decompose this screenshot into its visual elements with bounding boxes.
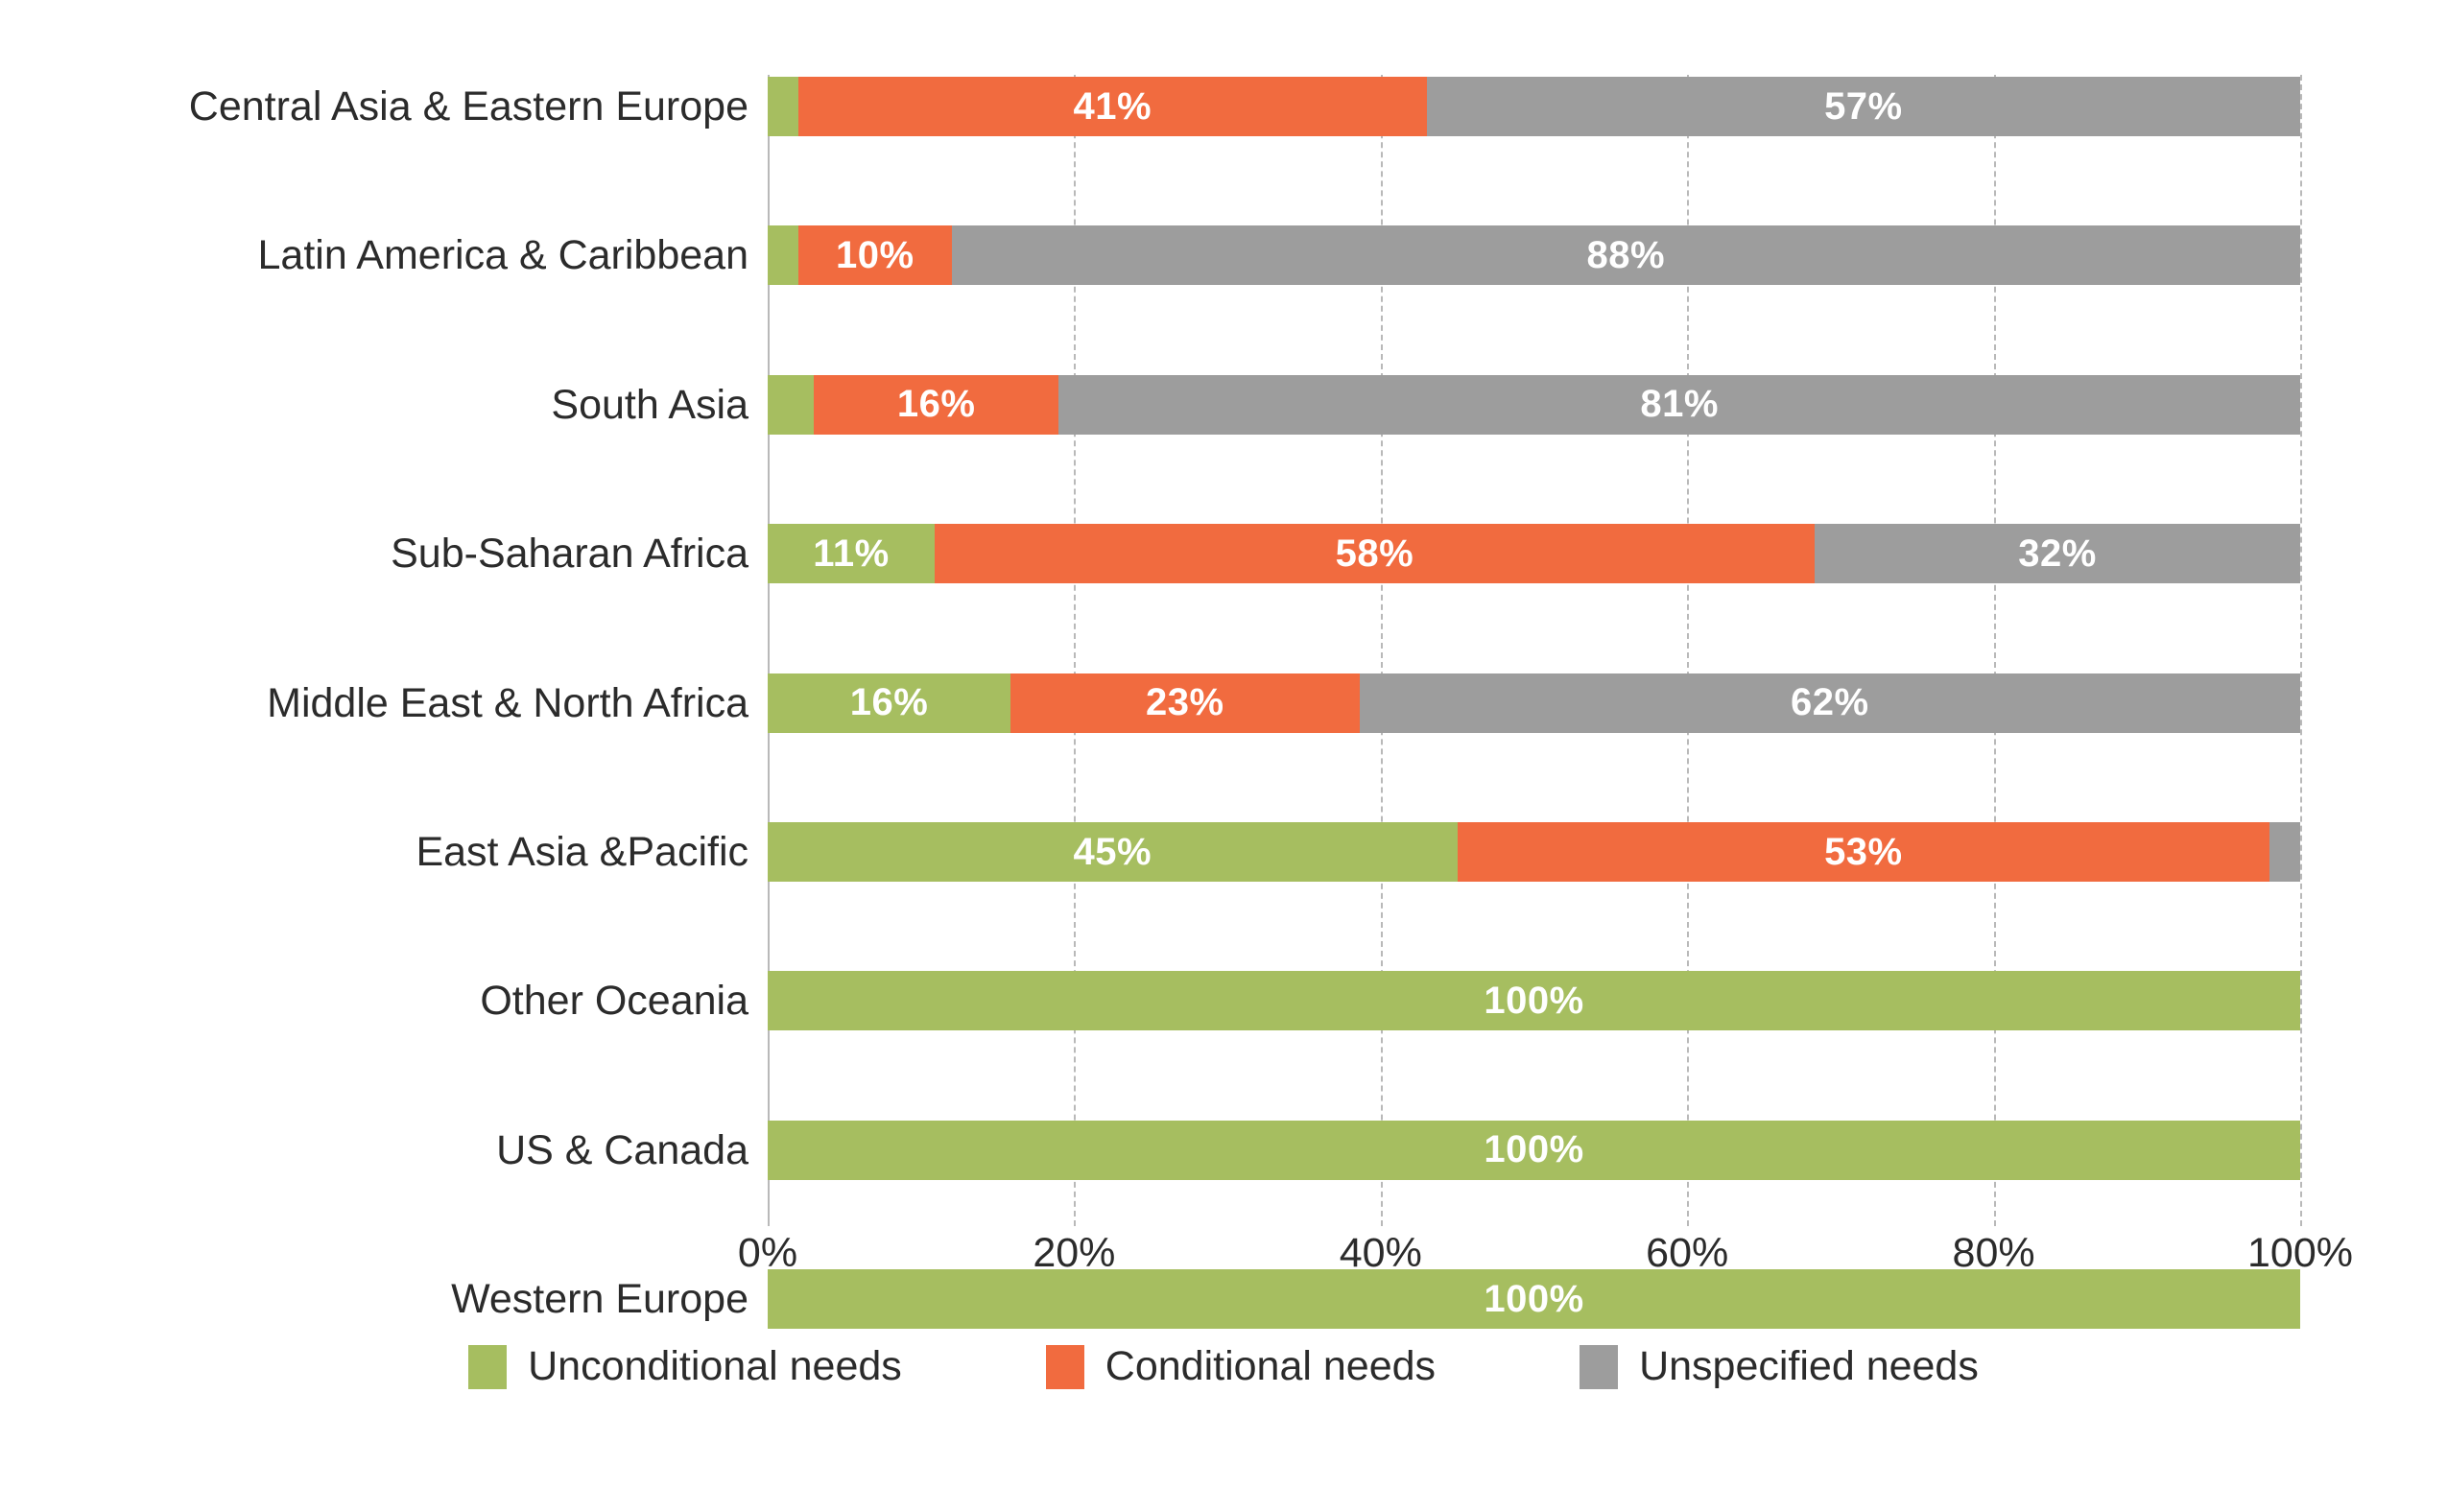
y-axis-category-labels: Central Asia & Eastern EuropeLatin Ameri… (0, 75, 750, 1226)
bar-segment-gray[interactable]: 88% (952, 225, 2300, 285)
y-axis-label: Western Europe (19, 1269, 748, 1329)
bar-row[interactable]: 45%53% (768, 822, 2300, 882)
bar-segment-green[interactable]: 100% (768, 971, 2300, 1030)
bar-value-label: 32% (2018, 532, 2097, 576)
legend-item[interactable]: Unspecified needs (1580, 1343, 1979, 1390)
bar-row[interactable]: 16%23%62% (768, 673, 2300, 733)
bar-segment-gray[interactable]: 32% (1815, 524, 2300, 583)
bar-value-label: 53% (1824, 831, 1903, 874)
bar-segment-orange[interactable]: 23% (1010, 673, 1360, 733)
y-axis-label: Middle East & North Africa (19, 673, 748, 733)
bar-value-label: 62% (1791, 681, 1869, 724)
bar-row[interactable]: 11%58%32% (768, 524, 2300, 583)
bar-segment-gray[interactable] (2269, 822, 2300, 882)
gridline-100% (2300, 75, 2302, 1226)
y-axis-label: Central Asia & Eastern Europe (19, 77, 748, 136)
bar-value-label: 23% (1146, 681, 1224, 724)
bar-segment-green[interactable] (768, 225, 798, 285)
bar-value-label: 41% (1074, 85, 1152, 129)
bar-segment-gray[interactable]: 62% (1360, 673, 2300, 733)
legend-label: Unconditional needs (528, 1343, 902, 1390)
bar-value-label: 100% (1484, 1128, 1583, 1171)
x-axis-tick: 80% (1953, 1230, 2035, 1277)
bar-segment-green[interactable]: 100% (768, 1121, 2300, 1180)
bar-segment-gray[interactable]: 57% (1427, 77, 2300, 136)
legend-label: Unspecified needs (1639, 1343, 1979, 1390)
y-axis-label: Other Oceania (19, 971, 748, 1030)
legend-swatch-icon (1046, 1345, 1084, 1389)
bar-value-label: 100% (1484, 980, 1583, 1023)
bar-value-label: 81% (1640, 383, 1719, 426)
bar-rows: 41%57%10%88%16%81%11%58%32%16%23%62%45%5… (768, 75, 2300, 1226)
stacked-bar-chart: Central Asia & Eastern EuropeLatin Ameri… (0, 0, 2447, 1512)
x-axis-tick: 100% (2247, 1230, 2353, 1277)
bar-row[interactable]: 100% (768, 1121, 2300, 1180)
x-axis-tick: 20% (1033, 1230, 1115, 1277)
bar-value-label: 88% (1587, 234, 1666, 277)
bar-row[interactable]: 16%81% (768, 375, 2300, 435)
bar-segment-orange[interactable]: 16% (814, 375, 1059, 435)
bar-segment-orange[interactable]: 53% (1458, 822, 2269, 882)
legend-swatch-icon (468, 1345, 507, 1389)
bar-segment-orange[interactable]: 58% (935, 524, 1815, 583)
bar-row[interactable]: 100% (768, 971, 2300, 1030)
y-axis-label: Latin America & Caribbean (19, 225, 748, 285)
y-axis-label: US & Canada (19, 1121, 748, 1180)
bar-value-label: 57% (1824, 85, 1903, 129)
bar-row[interactable]: 10%88% (768, 225, 2300, 285)
bar-value-label: 16% (897, 383, 976, 426)
bar-segment-green[interactable] (768, 375, 814, 435)
y-axis-label: East Asia &Pacific (19, 822, 748, 882)
x-axis-tick-labels: 0%20%40%60%80%100% (768, 1230, 2300, 1297)
bar-segment-green[interactable]: 45% (768, 822, 1458, 882)
bar-segment-green[interactable]: 11% (768, 524, 935, 583)
y-axis-label: Sub-Saharan Africa (19, 524, 748, 583)
legend-item[interactable]: Conditional needs (1046, 1343, 1436, 1390)
legend-swatch-icon (1580, 1345, 1618, 1389)
legend-label: Conditional needs (1105, 1343, 1436, 1390)
legend-item[interactable]: Unconditional needs (468, 1343, 902, 1390)
bar-row[interactable]: 41%57% (768, 77, 2300, 136)
bar-segment-orange[interactable]: 41% (798, 77, 1427, 136)
bar-value-label: 10% (836, 234, 915, 277)
bar-segment-green[interactable] (768, 77, 798, 136)
bar-value-label: 11% (813, 532, 889, 576)
x-axis-tick: 0% (738, 1230, 797, 1277)
x-axis-tick: 60% (1646, 1230, 1728, 1277)
bar-segment-green[interactable]: 16% (768, 673, 1010, 733)
chart-legend: Unconditional needsConditional needsUnsp… (0, 1343, 2447, 1390)
bar-value-label: 16% (850, 681, 929, 724)
x-axis-tick: 40% (1340, 1230, 1422, 1277)
y-axis-label: South Asia (19, 375, 748, 435)
bar-value-label: 45% (1074, 831, 1152, 874)
bar-segment-gray[interactable]: 81% (1058, 375, 2300, 435)
bar-value-label: 58% (1336, 532, 1414, 576)
bar-segment-orange[interactable]: 10% (798, 225, 952, 285)
